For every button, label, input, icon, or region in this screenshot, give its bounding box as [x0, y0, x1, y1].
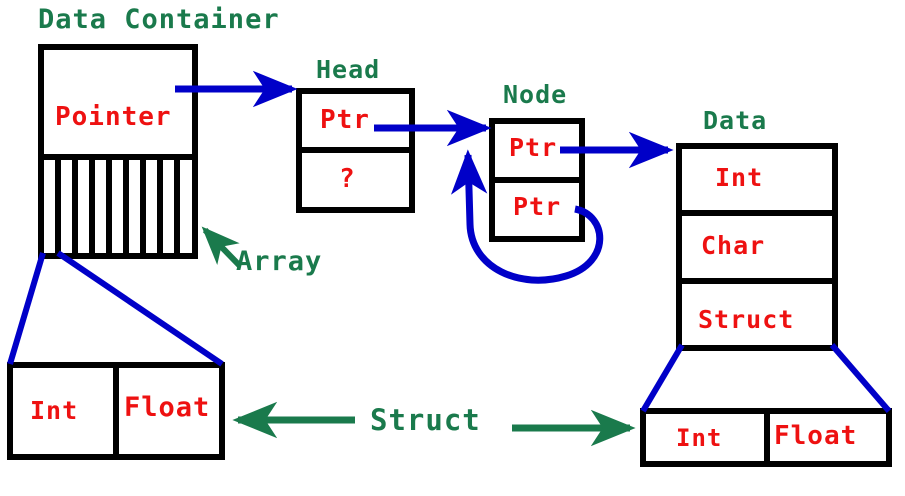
cell-data-struct: Struct [698, 305, 794, 334]
cell-head-ptr: Ptr [320, 105, 370, 135]
expansion-lines-array-to-struct-left [10, 253, 222, 364]
cell-struct-right-int: Int [676, 424, 722, 452]
label-data-container: Data Container [38, 4, 280, 35]
diagram-canvas: Data Container Head Node Data Array Stru… [0, 0, 905, 496]
data-container-box [41, 47, 195, 256]
label-struct-callout: Struct [370, 403, 481, 437]
label-data: Data [703, 106, 767, 135]
cell-node-ptr-1: Ptr [509, 133, 557, 162]
cell-data-int: Int [715, 163, 763, 192]
arrow-array-callout [205, 230, 240, 266]
label-node: Node [503, 80, 567, 109]
cell-struct-right-float: Float [774, 421, 857, 451]
expansion-lines-data-to-struct-right [643, 345, 889, 411]
cell-struct-left-float: Float [124, 392, 210, 423]
label-array-callout: Array [236, 246, 322, 277]
cell-data-char: Char [701, 231, 765, 260]
cell-struct-left-int: Int [30, 396, 78, 425]
cell-node-ptr-2: Ptr [513, 192, 561, 221]
cell-head-unknown: ? [339, 164, 356, 194]
cell-data-container-pointer: Pointer [55, 102, 172, 132]
label-head: Head [316, 55, 380, 84]
